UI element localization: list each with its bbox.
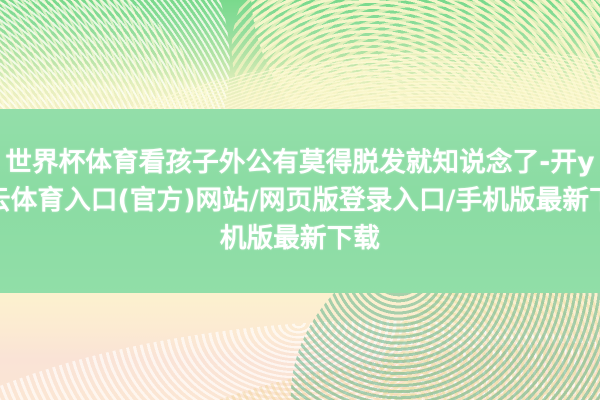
top-decorative-band [0,0,600,109]
banner-image: 世界杯体育看孩子外公有莫得脱发就知说念了-开y 云体育入口(官方)网站/网页版登… [0,0,600,400]
banner-title-line-1: 世界杯体育看孩子外公有莫得脱发就知说念了-开y [0,144,600,182]
bottom-right-green-wave-lines-icon [269,293,600,400]
banner-title-line-2: 云体育入口(官方)网站/网页版登录入口/手机版最新下 [0,182,600,220]
banner-title-line-3: 机版最新下载 [0,220,600,258]
bottom-decorative-band [0,293,600,400]
banner-title: 世界杯体育看孩子外公有莫得脱发就知说念了-开y 云体育入口(官方)网站/网页版登… [0,144,600,258]
title-band: 世界杯体育看孩子外公有莫得脱发就知说念了-开y 云体育入口(官方)网站/网页版登… [0,109,600,293]
